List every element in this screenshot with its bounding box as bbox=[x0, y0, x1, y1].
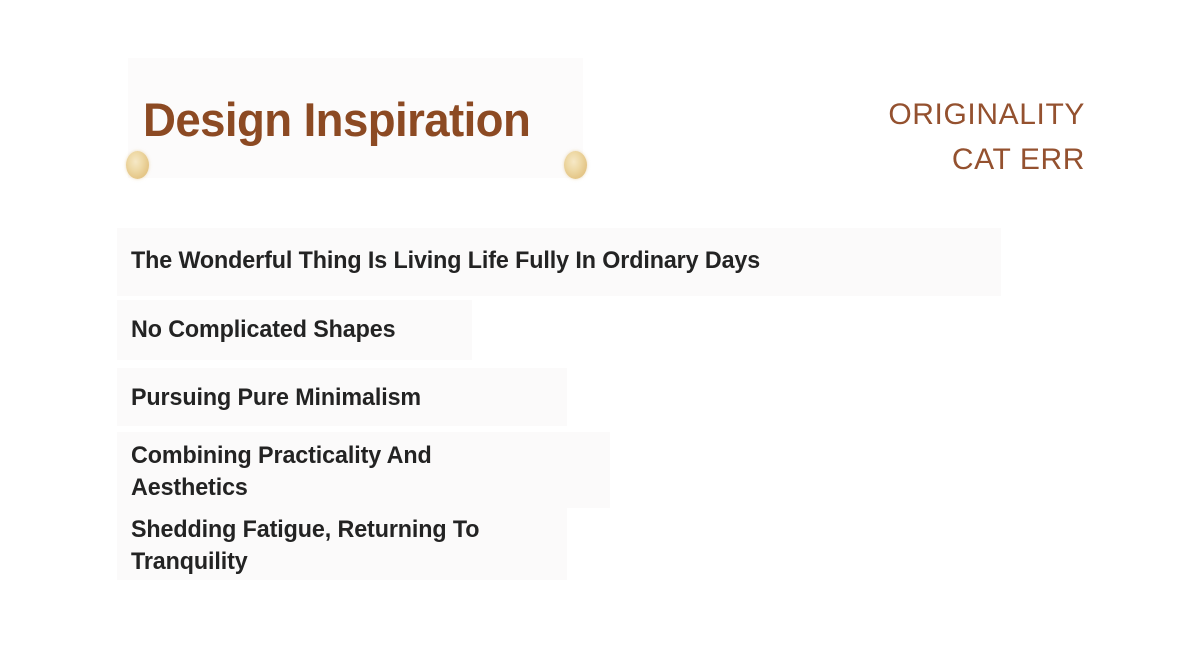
list-item-label: No Complicated Shapes bbox=[131, 314, 519, 346]
list-item-label: Combining Practicality And Aesthetics bbox=[131, 440, 519, 504]
slide-canvas: Design Inspiration ORIGINALITY CAT ERR T… bbox=[0, 0, 1200, 658]
list-item-label: The Wonderful Thing Is Living Life Fully… bbox=[131, 245, 985, 277]
decorative-dot-right-icon bbox=[564, 151, 587, 179]
right-header-line-originality: ORIGINALITY bbox=[745, 92, 1085, 137]
right-header-line-cat-err: CAT ERR bbox=[745, 137, 1085, 182]
list-item-label: Pursuing Pure Minimalism bbox=[131, 382, 577, 414]
list-item-label: Shedding Fatigue, Returning To Tranquili… bbox=[131, 514, 558, 578]
right-header: ORIGINALITY CAT ERR bbox=[745, 92, 1085, 182]
page-title: Design Inspiration bbox=[143, 90, 530, 150]
decorative-dot-left-icon bbox=[126, 151, 149, 179]
